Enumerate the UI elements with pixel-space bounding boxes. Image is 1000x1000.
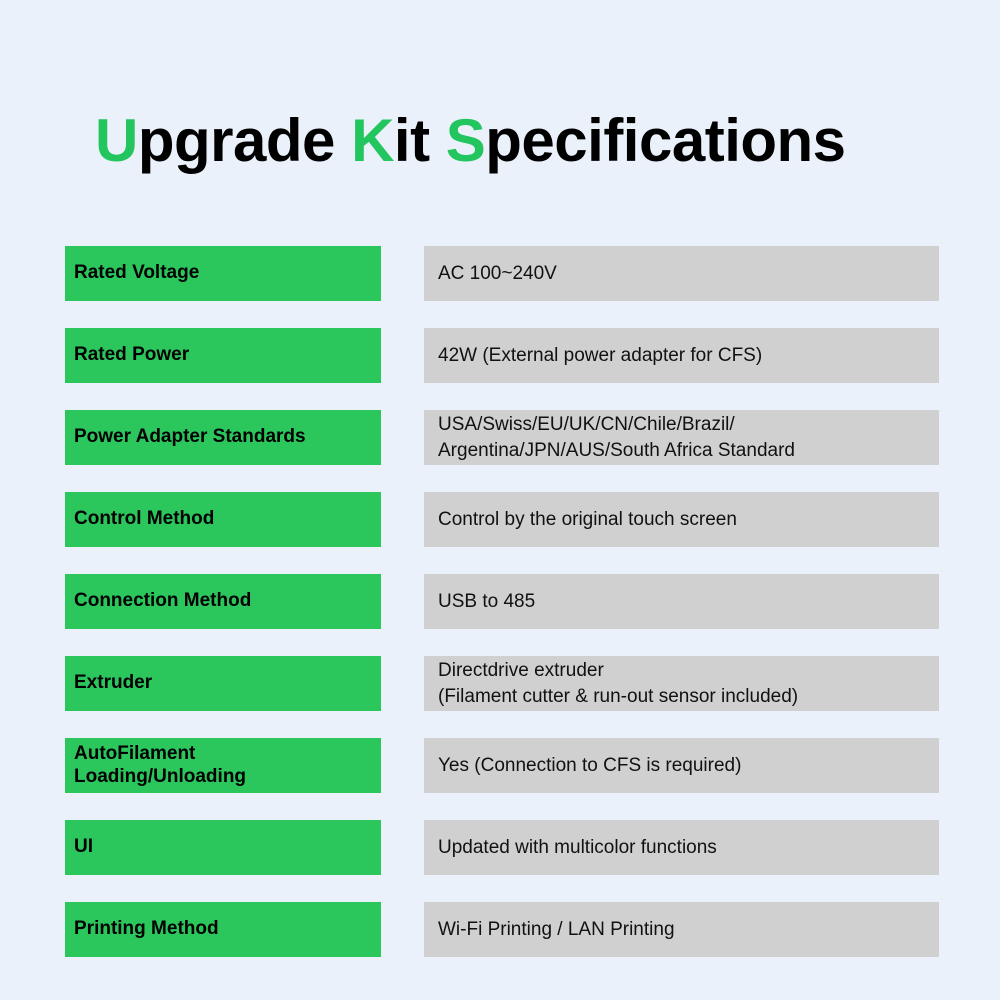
spec-row: Printing MethodWi-Fi Printing / LAN Prin… — [65, 902, 939, 957]
spec-value-cell: Updated with multicolor functions — [424, 820, 939, 875]
spec-row: UIUpdated with multicolor functions — [65, 820, 939, 875]
title-segment-0: U — [95, 107, 138, 174]
column-gap — [381, 574, 424, 629]
spec-row: Rated VoltageAC 100~240V — [65, 246, 939, 301]
spec-label-line: Printing Method — [74, 918, 372, 940]
title-segment-2: K — [351, 107, 394, 174]
spec-value-line: Wi-Fi Printing / LAN Printing — [438, 917, 925, 943]
spec-label-cell: Control Method — [65, 492, 381, 547]
column-gap — [381, 656, 424, 711]
spec-label-line: Power Adapter Standards — [74, 426, 372, 448]
spec-row: Power Adapter StandardsUSA/Swiss/EU/UK/C… — [65, 410, 939, 465]
spec-row: AutoFilamentLoading/UnloadingYes (Connec… — [65, 738, 939, 793]
spec-value-line: Control by the original touch screen — [438, 507, 925, 533]
title-segment-3: it — [394, 107, 446, 174]
spec-label-cell: Power Adapter Standards — [65, 410, 381, 465]
spec-label-cell: Printing Method — [65, 902, 381, 957]
spec-label-line: Control Method — [74, 508, 372, 530]
spec-value-line: USB to 485 — [438, 589, 925, 615]
specifications-table: Rated VoltageAC 100~240VRated Power42W (… — [65, 246, 939, 957]
spec-label-line: Rated Power — [74, 344, 372, 366]
spec-label-line: Connection Method — [74, 590, 372, 612]
spec-label-cell: Connection Method — [65, 574, 381, 629]
spec-value-cell: USA/Swiss/EU/UK/CN/Chile/Brazil/Argentin… — [424, 410, 939, 465]
spec-value-line: Yes (Connection to CFS is required) — [438, 753, 925, 779]
column-gap — [381, 410, 424, 465]
spec-label-cell: Rated Power — [65, 328, 381, 383]
spec-row: Rated Power42W (External power adapter f… — [65, 328, 939, 383]
spec-value-line: (Filament cutter & run-out sensor includ… — [438, 684, 925, 710]
page-title: Upgrade Kit Specifications — [95, 106, 846, 175]
spec-value-line: Argentina/JPN/AUS/South Africa Standard — [438, 438, 925, 464]
spec-label-line: Loading/Unloading — [74, 766, 372, 788]
spec-value-cell: 42W (External power adapter for CFS) — [424, 328, 939, 383]
spec-label-line: Extruder — [74, 672, 372, 694]
spec-value-cell: Wi-Fi Printing / LAN Printing — [424, 902, 939, 957]
spec-value-line: AC 100~240V — [438, 261, 925, 287]
column-gap — [381, 246, 424, 301]
spec-value-line: Directdrive extruder — [438, 658, 925, 684]
spec-label-line: AutoFilament — [74, 743, 372, 765]
spec-label-cell: Extruder — [65, 656, 381, 711]
spec-row: Control MethodControl by the original to… — [65, 492, 939, 547]
title-segment-5: pecifications — [485, 107, 845, 174]
spec-value-cell: Directdrive extruder(Filament cutter & r… — [424, 656, 939, 711]
spec-row: Connection MethodUSB to 485 — [65, 574, 939, 629]
spec-label-line: Rated Voltage — [74, 262, 372, 284]
column-gap — [381, 492, 424, 547]
spec-value-line: 42W (External power adapter for CFS) — [438, 343, 925, 369]
column-gap — [381, 820, 424, 875]
spec-value-cell: AC 100~240V — [424, 246, 939, 301]
specifications-page: Upgrade Kit Specifications Rated Voltage… — [0, 0, 1000, 1000]
spec-label-cell: Rated Voltage — [65, 246, 381, 301]
column-gap — [381, 902, 424, 957]
spec-value-line: USA/Swiss/EU/UK/CN/Chile/Brazil/ — [438, 412, 925, 438]
spec-value-cell: Yes (Connection to CFS is required) — [424, 738, 939, 793]
spec-value-cell: USB to 485 — [424, 574, 939, 629]
spec-value-cell: Control by the original touch screen — [424, 492, 939, 547]
column-gap — [381, 328, 424, 383]
title-segment-4: S — [446, 107, 486, 174]
spec-label-cell: AutoFilamentLoading/Unloading — [65, 738, 381, 793]
column-gap — [381, 738, 424, 793]
spec-row: ExtruderDirectdrive extruder(Filament cu… — [65, 656, 939, 711]
spec-value-line: Updated with multicolor functions — [438, 835, 925, 861]
title-segment-1: pgrade — [138, 107, 351, 174]
spec-label-line: UI — [74, 836, 372, 858]
spec-label-cell: UI — [65, 820, 381, 875]
